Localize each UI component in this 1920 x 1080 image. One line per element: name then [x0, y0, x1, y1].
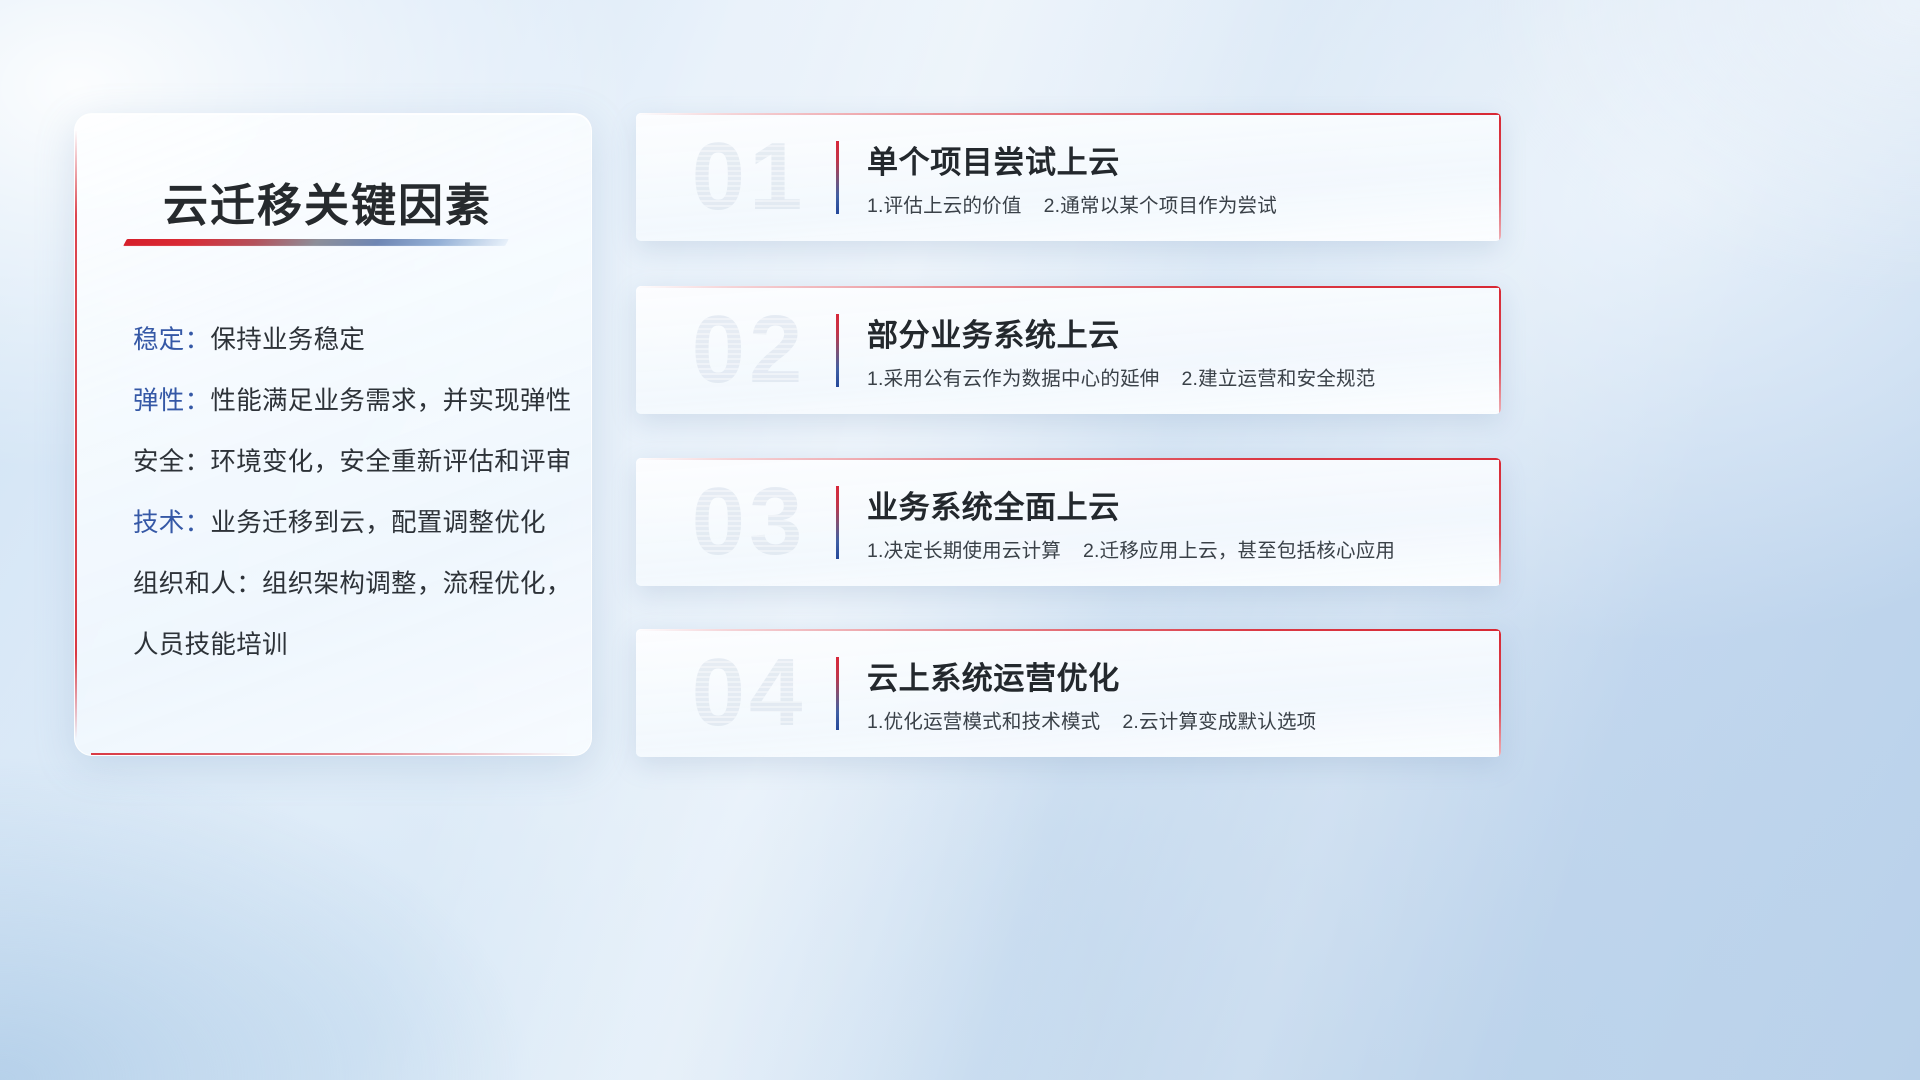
step-accent-bar — [836, 314, 839, 387]
list-item-label: 技术： — [133, 509, 210, 537]
slide-canvas: 云迁移关键因素 稳定：保持业务稳定 弹性：性能满足业务需求，并实现弹性 安全：环… — [0, 0, 1920, 1080]
step-point-2: 2.通常以某个项目作为尝试 — [1044, 195, 1277, 217]
step-card-02[interactable]: 02 02 部分业务系统上云 1.采用公有云作为数据中心的延伸2.建立运营和安全… — [636, 286, 1501, 414]
list-item: 组织和人：组织架构调整，流程优化， — [133, 554, 565, 615]
step-accent-bar — [836, 657, 839, 730]
step-point-2: 2.建立运营和安全规范 — [1181, 368, 1375, 390]
key-factors-card: 云迁移关键因素 稳定：保持业务稳定 弹性：性能满足业务需求，并实现弹性 安全：环… — [74, 113, 592, 756]
list-item-text: 保持业务稳定 — [210, 326, 365, 354]
step-card-03[interactable]: 03 03 业务系统全面上云 1.决定长期使用云计算2.迁移应用上云，甚至包括核… — [636, 458, 1501, 586]
step-point-2: 2.迁移应用上云，甚至包括核心应用 — [1083, 540, 1395, 562]
step-accent-bar — [836, 486, 839, 559]
title-underline-rule — [123, 239, 509, 246]
list-item: 安全：环境变化，安全重新评估和评审 — [133, 432, 565, 493]
list-item: 人员技能培训 — [133, 615, 565, 676]
step-point-1: 1.优化运营模式和技术模式 — [867, 711, 1100, 733]
step-description: 1.优化运营模式和技术模式2.云计算变成默认选项 — [867, 705, 1316, 734]
list-item-text: 人员技能培训 — [133, 631, 288, 659]
list-item: 技术：业务迁移到云，配置调整优化 — [133, 493, 565, 554]
list-item: 稳定：保持业务稳定 — [133, 310, 565, 371]
step-title: 单个项目尝试上云 — [867, 137, 1120, 182]
list-item-text: 组织架构调整，流程优化， — [262, 570, 572, 598]
step-number: 03 — [664, 462, 834, 582]
list-item-text: 性能满足业务需求，并实现弹性 — [210, 387, 571, 415]
step-number: 04 — [664, 633, 834, 753]
step-point-1: 1.采用公有云作为数据中心的延伸 — [867, 368, 1159, 390]
page-title: 云迁移关键因素 — [163, 169, 492, 234]
list-item-label: 组织和人： — [133, 570, 262, 598]
step-title: 部分业务系统上云 — [867, 310, 1120, 355]
step-point-1: 1.决定长期使用云计算 — [867, 540, 1061, 562]
list-item-text: 环境变化，安全重新评估和评审 — [210, 448, 571, 476]
step-number: 02 — [664, 290, 834, 410]
list-item-text: 业务迁移到云，配置调整优化 — [210, 509, 545, 537]
list-item-label: 安全： — [133, 448, 210, 476]
key-factors-list: 稳定：保持业务稳定 弹性：性能满足业务需求，并实现弹性 安全：环境变化，安全重新… — [133, 310, 565, 676]
step-title: 云上系统运营优化 — [867, 653, 1120, 698]
step-title: 业务系统全面上云 — [867, 482, 1120, 527]
card-left-accent-line — [75, 130, 77, 739]
step-card-01[interactable]: 01 01 单个项目尝试上云 1.评估上云的价值2.通常以某个项目作为尝试 — [636, 113, 1501, 241]
step-card-04[interactable]: 04 04 云上系统运营优化 1.优化运营模式和技术模式2.云计算变成默认选项 — [636, 629, 1501, 757]
step-description: 1.决定长期使用云计算2.迁移应用上云，甚至包括核心应用 — [867, 534, 1395, 563]
list-item-label: 稳定： — [133, 326, 210, 354]
step-point-1: 1.评估上云的价值 — [867, 195, 1022, 217]
step-description: 1.采用公有云作为数据中心的延伸2.建立运营和安全规范 — [867, 362, 1375, 391]
list-item-label: 弹性： — [133, 387, 210, 415]
step-number: 01 — [664, 117, 834, 237]
card-bottom-accent-line — [91, 753, 575, 755]
step-point-2: 2.云计算变成默认选项 — [1122, 711, 1316, 733]
list-item: 弹性：性能满足业务需求，并实现弹性 — [133, 371, 565, 432]
step-accent-bar — [836, 141, 839, 214]
step-description: 1.评估上云的价值2.通常以某个项目作为尝试 — [867, 189, 1277, 218]
